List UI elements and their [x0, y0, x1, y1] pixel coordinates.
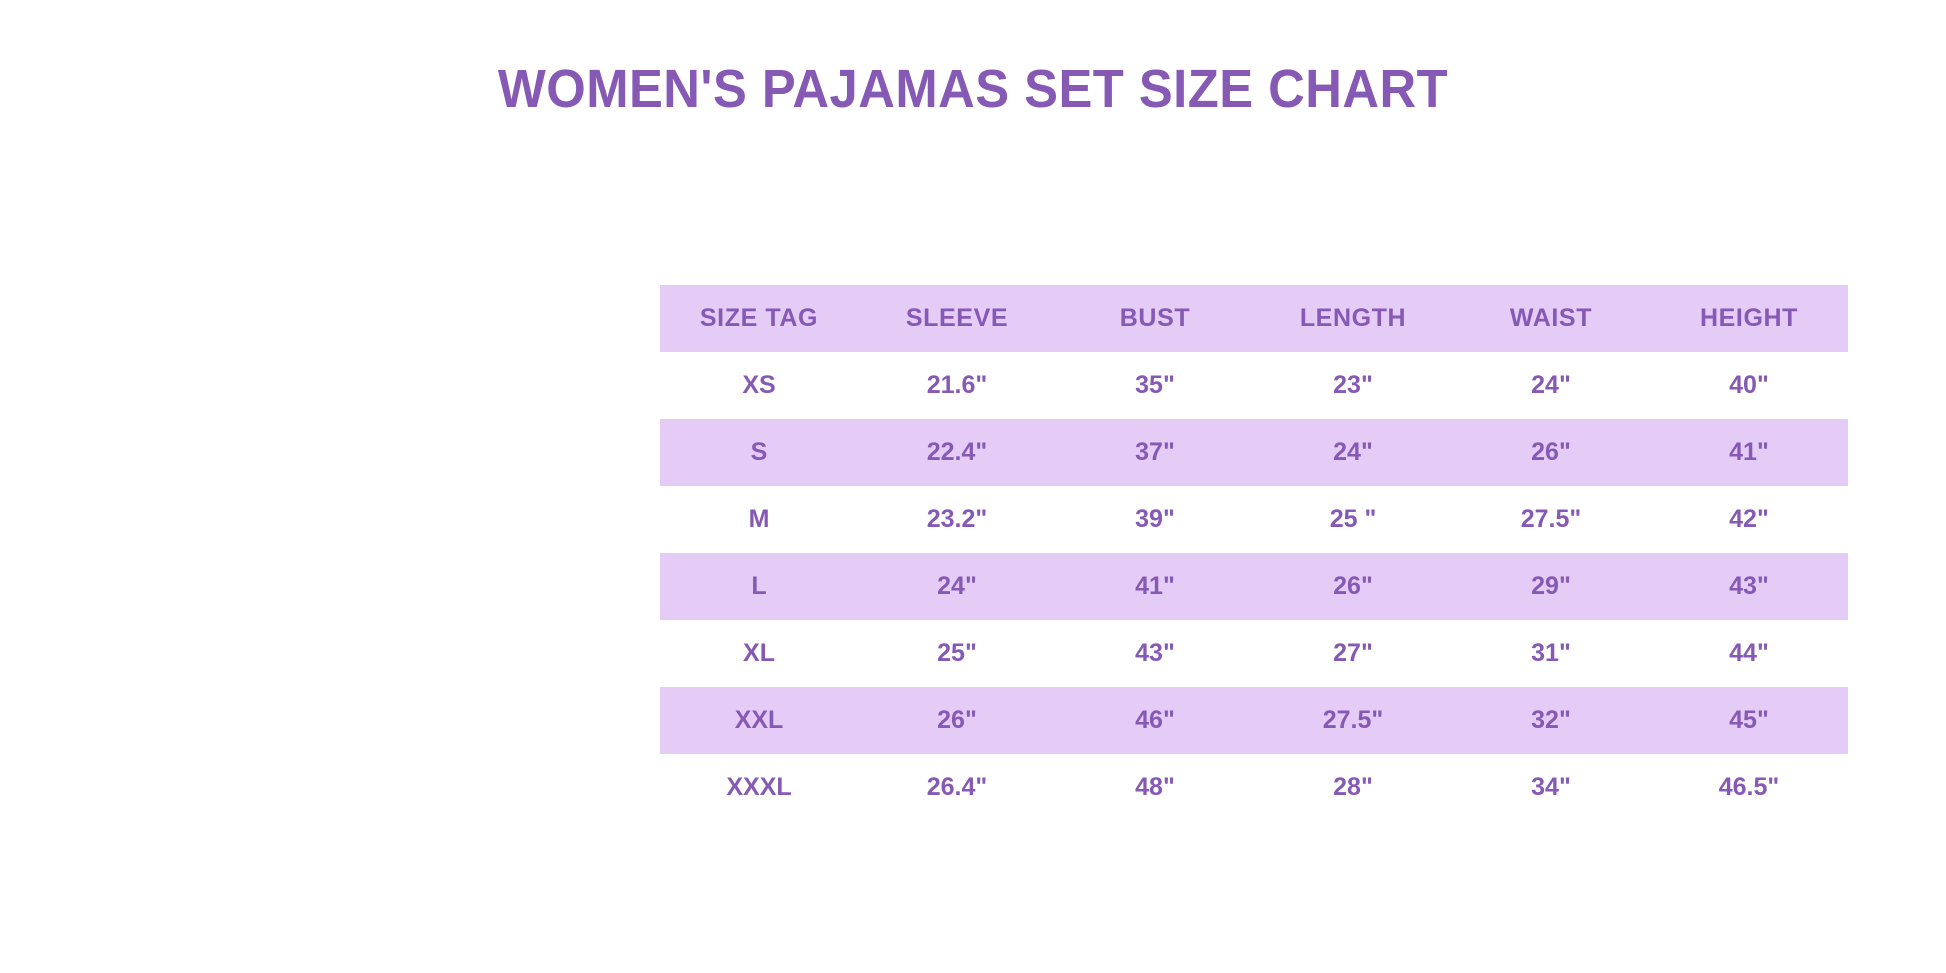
measurement-cell: 22.4" — [858, 419, 1056, 486]
size-tag-cell: M — [660, 486, 858, 553]
column-header-waist: WAIST — [1452, 285, 1650, 352]
measurement-cell: 46.5" — [1650, 754, 1848, 821]
table-row: XL25"43"27"31"44" — [660, 620, 1848, 687]
measurement-cell: 21.6" — [858, 352, 1056, 419]
size-chart-table: SIZE TAGSLEEVEBUSTLENGTHWAISTHEIGHT XS21… — [660, 285, 1848, 821]
measurement-cell: 27.5" — [1452, 486, 1650, 553]
table-row: S22.4"37"24"26"41" — [660, 419, 1848, 486]
size-tag-cell: XL — [660, 620, 858, 687]
size-chart-table-container: SIZE TAGSLEEVEBUSTLENGTHWAISTHEIGHT XS21… — [660, 285, 1848, 821]
measurement-cell: 28" — [1254, 754, 1452, 821]
measurement-cell: 26" — [1452, 419, 1650, 486]
measurement-cell: 41" — [1650, 419, 1848, 486]
size-tag-cell: XXL — [660, 687, 858, 754]
measurement-cell: 25" — [858, 620, 1056, 687]
size-tag-cell: XS — [660, 352, 858, 419]
measurement-cell: 29" — [1452, 553, 1650, 620]
column-header-length: LENGTH — [1254, 285, 1452, 352]
measurement-cell: 24" — [858, 553, 1056, 620]
measurement-cell: 31" — [1452, 620, 1650, 687]
table-body: XS21.6"35"23"24"40"S22.4"37"24"26"41"M23… — [660, 352, 1848, 821]
measurement-cell: 44" — [1650, 620, 1848, 687]
measurement-cell: 26" — [858, 687, 1056, 754]
table-row: M23.2"39"25 "27.5"42" — [660, 486, 1848, 553]
column-header-size-tag: SIZE TAG — [660, 285, 858, 352]
measurement-cell: 40" — [1650, 352, 1848, 419]
measurement-cell: 39" — [1056, 486, 1254, 553]
measurement-cell: 24" — [1254, 419, 1452, 486]
measurement-cell: 46" — [1056, 687, 1254, 754]
size-tag-cell: XXXL — [660, 754, 858, 821]
measurement-cell: 43" — [1650, 553, 1848, 620]
size-chart-page: WOMEN'S PAJAMAS SET SIZE CHART SIZE TAGS… — [0, 0, 1946, 973]
table-header-row: SIZE TAGSLEEVEBUSTLENGTHWAISTHEIGHT — [660, 285, 1848, 352]
measurement-cell: 24" — [1452, 352, 1650, 419]
measurement-cell: 37" — [1056, 419, 1254, 486]
measurement-cell: 35" — [1056, 352, 1254, 419]
measurement-cell: 26.4" — [858, 754, 1056, 821]
measurement-cell: 41" — [1056, 553, 1254, 620]
table-row: XXL26"46"27.5"32"45" — [660, 687, 1848, 754]
table-row: XS21.6"35"23"24"40" — [660, 352, 1848, 419]
measurement-cell: 26" — [1254, 553, 1452, 620]
table-row: XXXL26.4"48"28"34"46.5" — [660, 754, 1848, 821]
measurement-cell: 42" — [1650, 486, 1848, 553]
page-title: WOMEN'S PAJAMAS SET SIZE CHART — [58, 60, 1887, 119]
measurement-cell: 48" — [1056, 754, 1254, 821]
measurement-cell: 34" — [1452, 754, 1650, 821]
measurement-cell: 43" — [1056, 620, 1254, 687]
table-row: L24"41"26"29"43" — [660, 553, 1848, 620]
table-header: SIZE TAGSLEEVEBUSTLENGTHWAISTHEIGHT — [660, 285, 1848, 352]
measurement-cell: 27" — [1254, 620, 1452, 687]
size-tag-cell: L — [660, 553, 858, 620]
measurement-cell: 32" — [1452, 687, 1650, 754]
measurement-cell: 27.5" — [1254, 687, 1452, 754]
column-header-bust: BUST — [1056, 285, 1254, 352]
measurement-cell: 25 " — [1254, 486, 1452, 553]
measurement-cell: 23" — [1254, 352, 1452, 419]
measurement-cell: 45" — [1650, 687, 1848, 754]
measurement-cell: 23.2" — [858, 486, 1056, 553]
column-header-height: HEIGHT — [1650, 285, 1848, 352]
size-tag-cell: S — [660, 419, 858, 486]
column-header-sleeve: SLEEVE — [858, 285, 1056, 352]
